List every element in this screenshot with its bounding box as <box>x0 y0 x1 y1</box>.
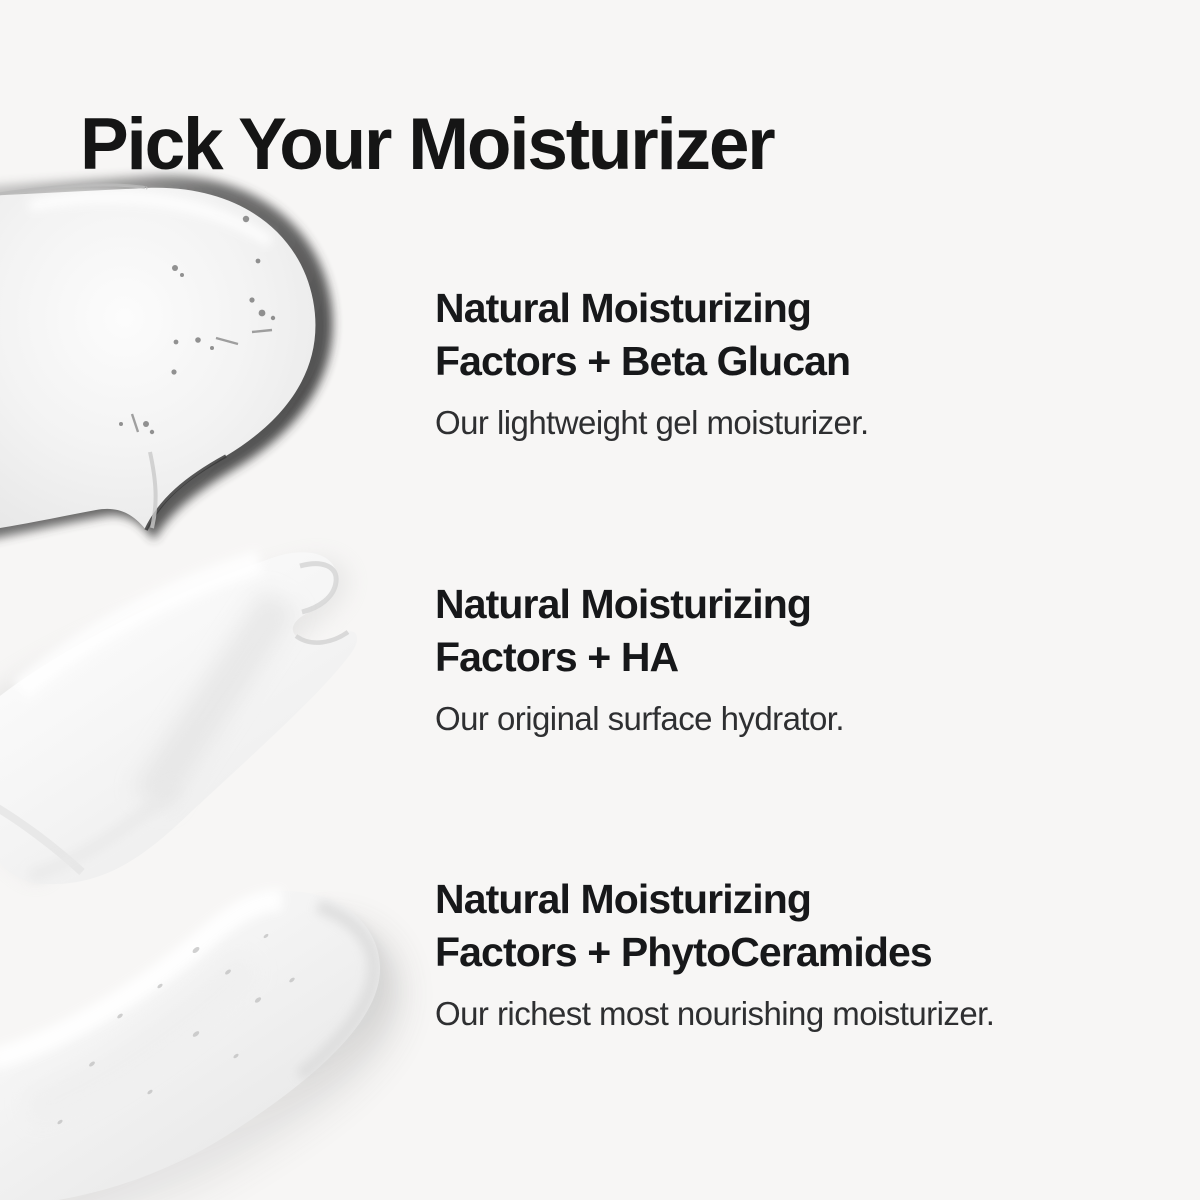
product-heading: Natural Moisturizing Factors + Beta Gluc… <box>435 282 1135 388</box>
product-subtitle: Our lightweight gel moisturizer. <box>435 388 1135 445</box>
white-cream-swatch <box>0 552 357 884</box>
product-item-phytoceramides[interactable]: Natural Moisturizing Factors + PhytoCera… <box>435 873 1135 1036</box>
product-list: Natural Moisturizing Factors + Beta Gluc… <box>435 0 1135 1200</box>
product-heading: Natural Moisturizing Factors + HA <box>435 578 1135 684</box>
product-item-beta-glucan[interactable]: Natural Moisturizing Factors + Beta Gluc… <box>435 282 1135 445</box>
promo-canvas: Pick Your Moisturizer Natural Moisturizi… <box>0 0 1200 1200</box>
product-heading: Natural Moisturizing Factors + PhytoCera… <box>435 873 1135 979</box>
product-subtitle: Our original surface hydrator. <box>435 684 1135 741</box>
clear-gel-swatch <box>0 176 333 540</box>
product-item-ha[interactable]: Natural Moisturizing Factors + HA Our or… <box>435 578 1135 741</box>
rich-cream-swatch <box>0 891 398 1200</box>
product-subtitle: Our richest most nourishing moisturizer. <box>435 979 1135 1036</box>
